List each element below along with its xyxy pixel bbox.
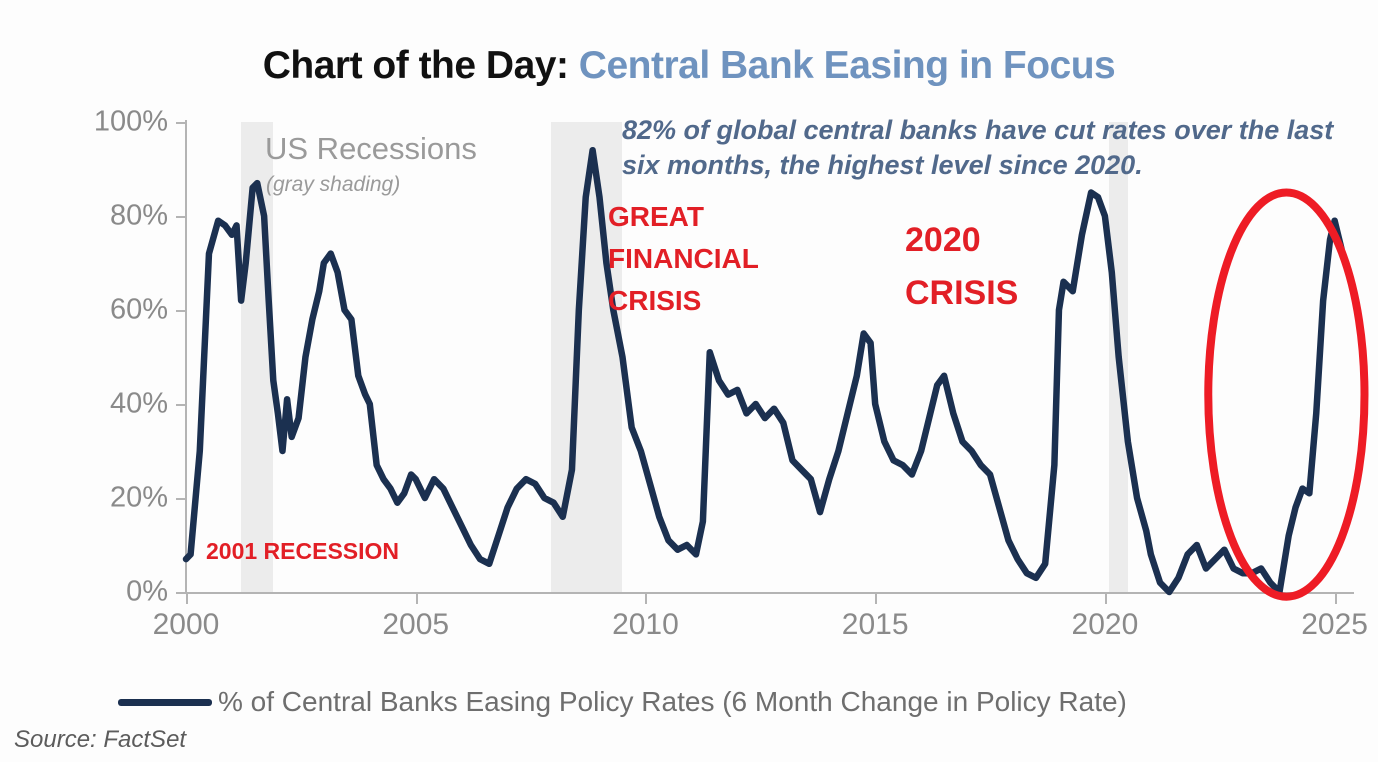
y-axis-tick-label: 40% <box>110 388 168 421</box>
y-axis-tick-label: 100% <box>94 106 168 139</box>
y-axis-line <box>185 120 187 594</box>
annotation-2020-line1: 2020 <box>905 214 1018 267</box>
x-axis-tick-label: 2020 <box>1072 608 1139 642</box>
page-title: Chart of the Day: Central Bank Easing in… <box>0 44 1378 88</box>
x-axis-tick <box>416 594 418 604</box>
x-axis-tick-label: 2015 <box>842 608 909 642</box>
x-axis-tick <box>1105 594 1107 604</box>
y-axis-tick-label: 0% <box>126 576 168 609</box>
x-axis-tick-label: 2025 <box>1301 608 1368 642</box>
annotation-us-recessions: US Recessions <box>265 131 477 167</box>
recession-band <box>551 122 622 592</box>
recession-band <box>1109 122 1127 592</box>
x-axis-tick <box>1335 594 1337 604</box>
annotation-gray-shading: (gray shading) <box>266 173 400 197</box>
x-axis-tick-label: 2005 <box>382 608 449 642</box>
annotation-gfc-line3: CRISIS <box>608 280 759 322</box>
y-axis-tick <box>176 592 186 594</box>
annotation-gfc-line1: GREAT <box>608 196 759 238</box>
annotation-2020-line2: CRISIS <box>905 267 1018 320</box>
y-axis-tick <box>176 498 186 500</box>
page-title-main: Chart of the Day: <box>263 44 579 87</box>
y-axis-tick-label: 20% <box>110 482 168 515</box>
y-axis-tick <box>176 216 186 218</box>
x-axis-tick <box>645 594 647 604</box>
y-axis-tick <box>176 404 186 406</box>
chart-page: Chart of the Day: Central Bank Easing in… <box>0 0 1378 762</box>
x-axis-tick-label: 2000 <box>153 608 220 642</box>
x-axis-tick <box>875 594 877 604</box>
x-axis-tick-label: 2010 <box>612 608 679 642</box>
y-axis-tick <box>176 310 186 312</box>
source-note: Source: FactSet <box>14 726 186 754</box>
page-title-accent: Central Bank Easing in Focus <box>579 44 1115 87</box>
annotation-great-financial-crisis: GREAT FINANCIAL CRISIS <box>608 196 759 322</box>
x-axis-line <box>185 592 1354 594</box>
y-axis-tick-label: 80% <box>110 200 168 233</box>
y-axis-tick <box>176 122 186 124</box>
annotation-gfc-line2: FINANCIAL <box>608 238 759 280</box>
legend-label: % of Central Banks Easing Policy Rates (… <box>218 686 1127 718</box>
annotation-2001-recession: 2001 RECESSION <box>206 538 399 565</box>
y-axis-tick-label: 60% <box>110 294 168 327</box>
x-axis-tick <box>186 594 188 604</box>
annotation-headline: 82% of global central banks have cut rat… <box>622 113 1352 183</box>
chart-legend: % of Central Banks Easing Policy Rates (… <box>118 686 1127 718</box>
annotation-2020-crisis: 2020 CRISIS <box>905 214 1018 319</box>
legend-line-swatch <box>118 699 212 706</box>
